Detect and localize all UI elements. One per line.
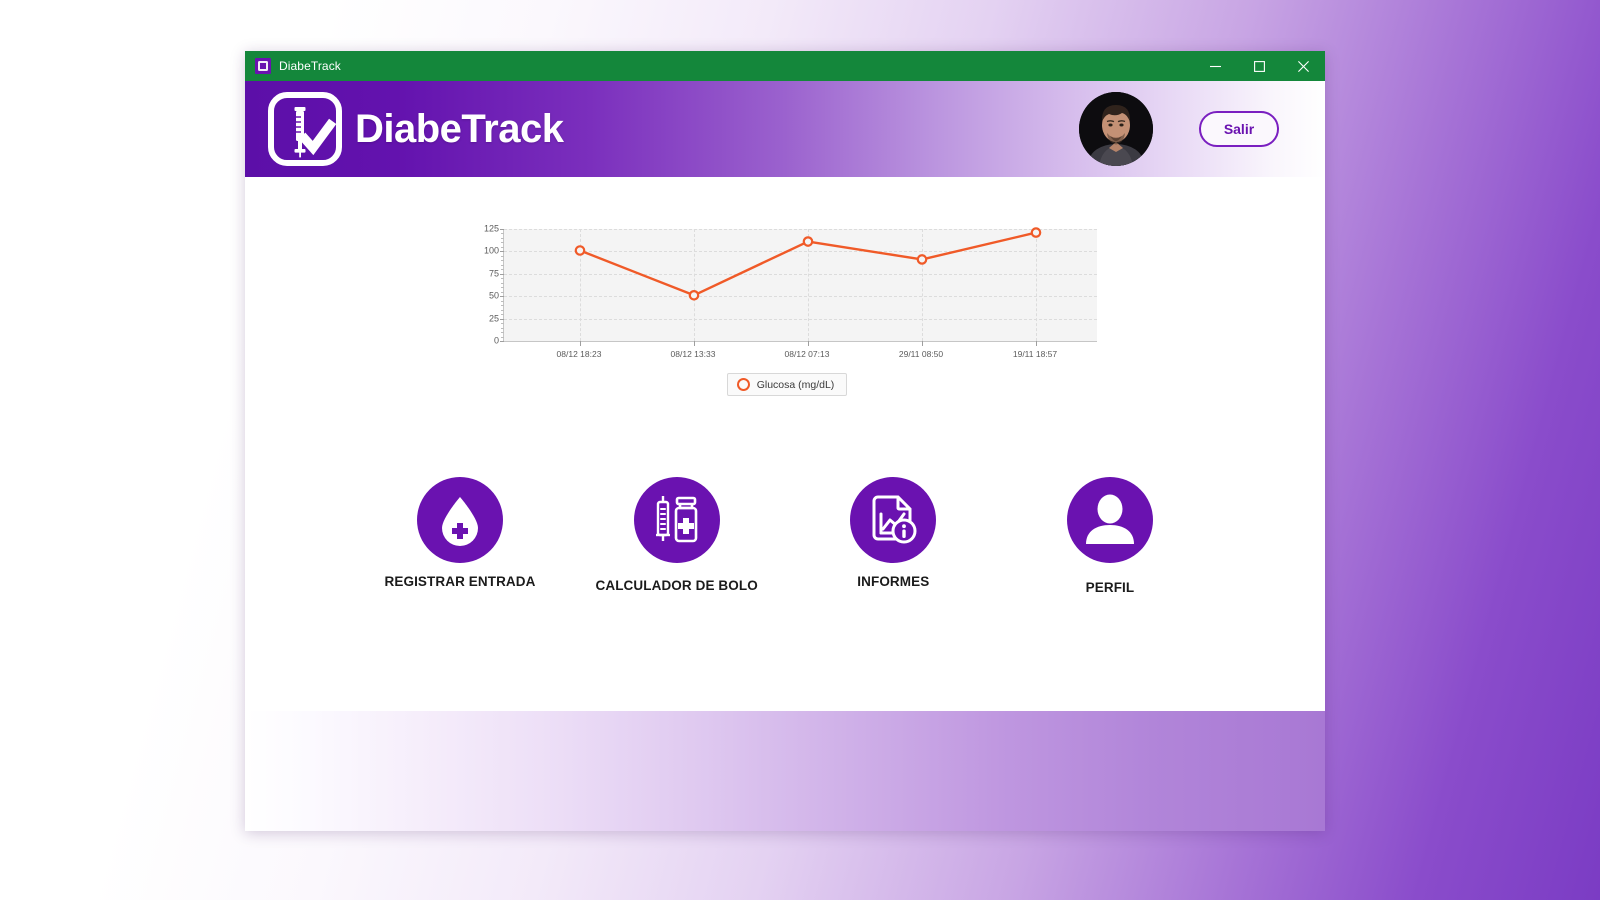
syringe-vial-icon [634,477,720,563]
y-axis-labels: 125 100 75 50 25 0 [477,229,499,341]
tile-label: REGISTRAR ENTRADA [385,574,536,589]
brand-logo: DiabeTrack [263,87,563,171]
data-point [1032,228,1040,236]
x-tick-label: 19/11 18:57 [1013,349,1057,359]
tile-label: CALCULADOR DE BOLO [596,578,758,593]
main-content: 125 100 75 50 25 0 [245,177,1325,711]
tile-registrar-entrada[interactable]: REGISTRAR ENTRADA [375,477,545,595]
window-footer-band [245,711,1325,831]
data-point [804,237,812,245]
window-titlebar[interactable]: DiabeTrack [245,51,1325,81]
avatar[interactable] [1079,92,1153,166]
logout-button[interactable]: Salir [1199,111,1279,147]
y-tick-label: 125 [484,225,499,234]
x-tick-label: 08/12 18:23 [557,349,602,359]
data-point [576,246,584,254]
glucose-chart: 125 100 75 50 25 0 [477,229,1097,396]
window-title: DiabeTrack [279,59,341,73]
brand-name: DiabeTrack [355,107,563,152]
action-tiles: REGISTRAR ENTRADA [245,477,1325,595]
app-header: DiabeTrack Salir [245,81,1325,177]
legend-label: Glucosa (mg/dL) [757,379,835,391]
x-axis-labels: 08/12 18:23 08/12 13:33 08/12 07:13 29/1… [503,349,1097,363]
tile-calculador-de-bolo[interactable]: CALCULADOR DE BOLO [592,477,762,595]
plot-canvas [503,229,1097,342]
x-tick-label: 08/12 13:33 [671,349,716,359]
x-tick-label: 08/12 07:13 [785,349,830,359]
chart-plot-area: 125 100 75 50 25 0 [477,229,1097,351]
legend-marker-icon [737,378,750,391]
data-point [918,255,926,263]
tile-informes[interactable]: INFORMES [808,477,978,595]
y-tick-label: 100 [484,247,499,256]
maximize-icon[interactable] [1237,51,1281,81]
tile-label: INFORMES [857,574,929,589]
y-tick-label: 50 [489,292,499,301]
header-actions: Salir [1079,92,1279,166]
y-tick-label: 0 [494,337,499,346]
window-controls [1193,51,1325,81]
report-info-icon [850,477,936,563]
app-icon [255,58,271,74]
data-point [690,291,698,299]
x-tick-label: 29/11 08:50 [899,349,943,359]
chart-legend: Glucosa (mg/dL) [727,373,848,396]
user-profile-icon [1067,477,1153,563]
minimize-icon[interactable] [1193,51,1237,81]
tile-label: PERFIL [1086,580,1135,595]
y-tick-label: 75 [489,269,499,278]
glucose-series [504,229,1098,341]
syringe-check-logo-icon [263,87,347,171]
y-tick-label: 25 [489,314,499,323]
blood-drop-plus-icon [417,477,503,563]
close-icon[interactable] [1281,51,1325,81]
app-window: DiabeTrack [245,51,1325,831]
tile-perfil[interactable]: PERFIL [1025,477,1195,595]
